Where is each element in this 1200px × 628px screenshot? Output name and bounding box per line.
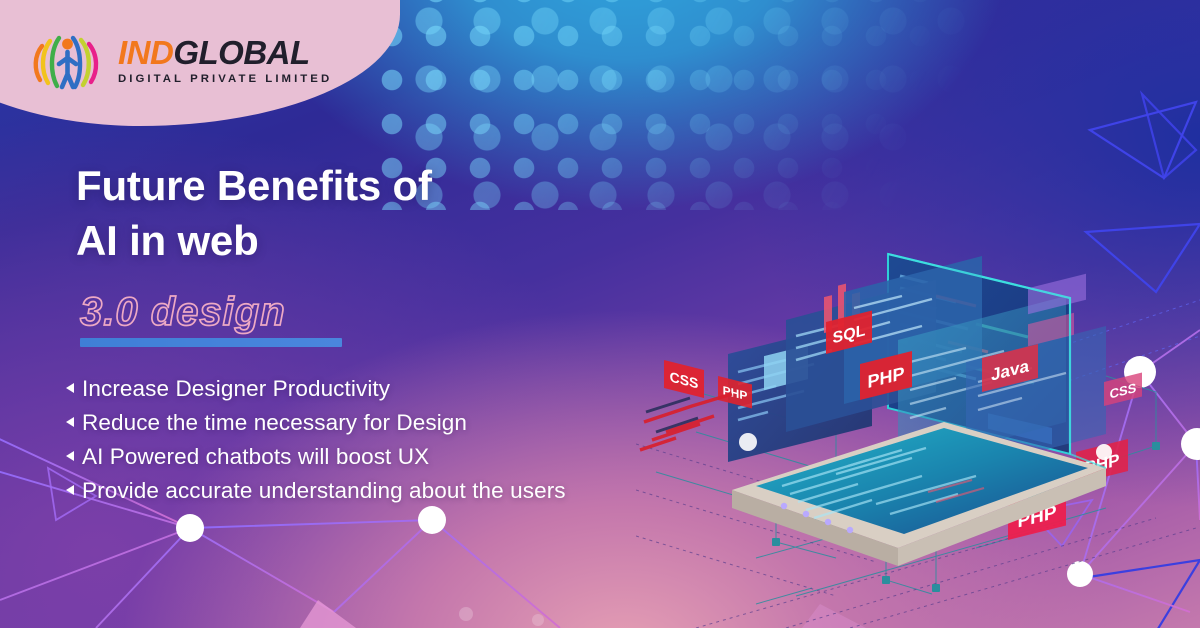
brand-logo[interactable]: INDGLOBAL DIGITAL PRIVATE LIMITED bbox=[32, 30, 332, 92]
list-item-label: AI Powered chatbots will boost UX bbox=[82, 443, 429, 471]
laptop-code-windows-graphic: CSS PHP SQL PHP Java bbox=[636, 236, 1196, 628]
page-title: Future Benefits of AI in web bbox=[76, 158, 636, 269]
soft-dot-decoration bbox=[459, 607, 473, 621]
brand-wordmark: INDGLOBAL bbox=[118, 36, 332, 69]
filled-triangle-decoration bbox=[300, 600, 356, 628]
accent-dot bbox=[1096, 444, 1112, 460]
subheadline: 3.0 design bbox=[80, 290, 286, 335]
brand-tagline: DIGITAL PRIVATE LIMITED bbox=[118, 74, 332, 85]
headline-line-1: Future Benefits of bbox=[76, 158, 636, 213]
headline-line-2: AI in web bbox=[76, 213, 636, 268]
list-item-label: Provide accurate understanding about the… bbox=[82, 477, 566, 505]
triangle-left-icon bbox=[66, 417, 74, 427]
indglobal-swoosh-logo-icon bbox=[32, 30, 106, 92]
brand-name-part1: IND bbox=[118, 34, 173, 71]
list-item-label: Reduce the time necessary for Design bbox=[82, 409, 467, 437]
tech-chip-css: CSS bbox=[664, 360, 704, 398]
isometric-laptop-illustration: CSS PHP SQL PHP Java bbox=[636, 236, 1196, 628]
brand-name-part2: GLOBAL bbox=[173, 34, 309, 71]
subheadline-underline bbox=[80, 338, 342, 347]
list-item-label: Increase Designer Productivity bbox=[82, 375, 390, 403]
triangle-left-icon bbox=[66, 451, 74, 461]
soft-dot-decoration bbox=[532, 614, 544, 626]
promo-banner: INDGLOBAL DIGITAL PRIVATE LIMITED Future… bbox=[0, 0, 1200, 628]
triangle-left-icon bbox=[66, 485, 74, 495]
triangle-left-icon bbox=[66, 383, 74, 393]
